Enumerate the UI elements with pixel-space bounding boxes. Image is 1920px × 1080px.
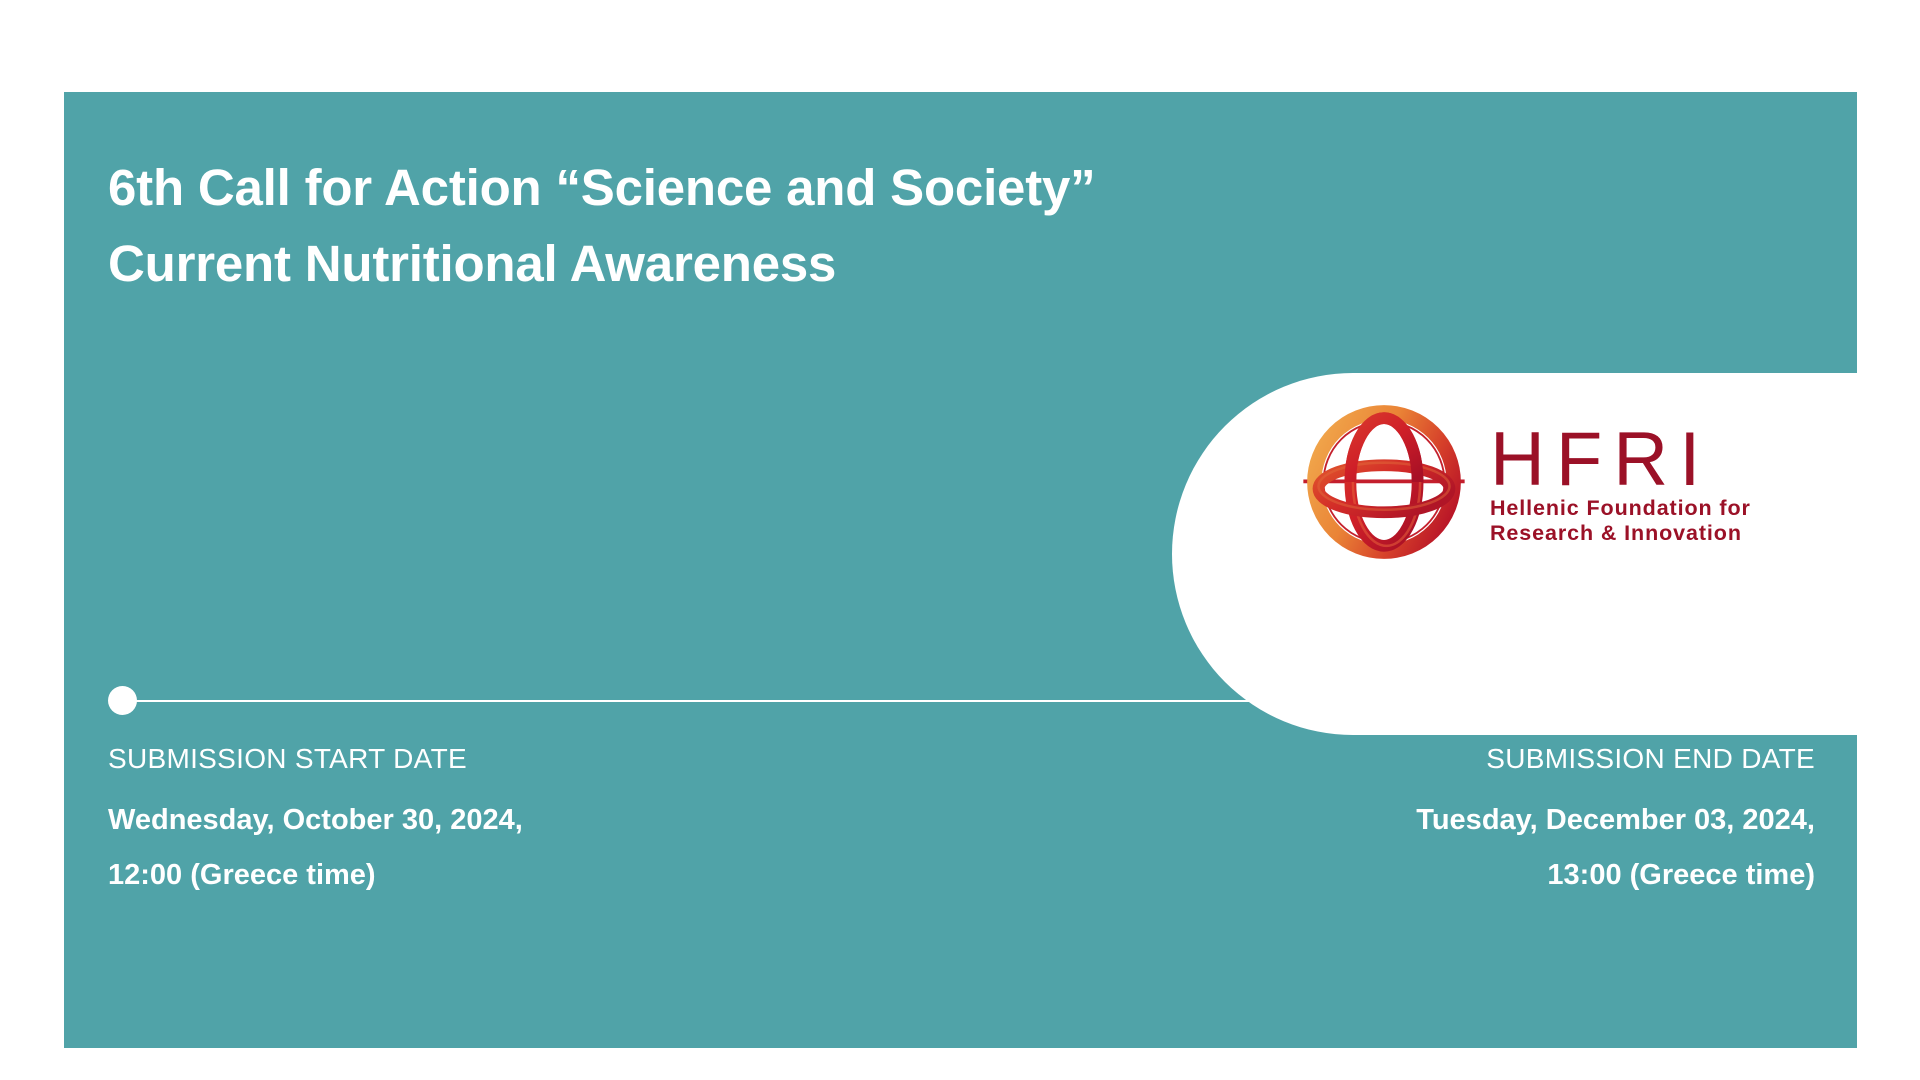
submission-start-block: SUBMISSION START DATE Wednesday, October… <box>108 742 808 903</box>
timeline-start-dot-icon <box>108 686 137 715</box>
submission-end-value-line-1: Tuesday, December 03, 2024, <box>1115 793 1815 848</box>
timeline-rule <box>122 700 1802 702</box>
announcement-banner-card: 6th Call for Action “Science and Society… <box>64 92 1857 1048</box>
logo-tagline-line-1: Hellenic Foundation for <box>1490 496 1751 521</box>
hfri-logo: HFRI Hellenic Foundation for Research & … <box>1300 398 1751 566</box>
logo-wordmark: HFRI Hellenic Foundation for Research & … <box>1490 418 1751 546</box>
page-title: 6th Call for Action “Science and Society… <box>108 150 1408 302</box>
submission-end-label: SUBMISSION END DATE <box>1115 742 1815 776</box>
submission-start-value-line-2: 12:00 (Greece time) <box>108 848 808 903</box>
submission-start-label: SUBMISSION START DATE <box>108 742 808 776</box>
logo-panel: HFRI Hellenic Foundation for Research & … <box>1172 373 1857 735</box>
submission-timeline <box>108 686 1815 716</box>
hfri-globe-emblem-icon <box>1300 398 1468 566</box>
title-line-1: 6th Call for Action “Science and Society… <box>108 150 1408 226</box>
submission-end-value-line-2: 13:00 (Greece time) <box>1115 848 1815 903</box>
timeline-end-dot-icon <box>1758 686 1787 715</box>
submission-end-block: SUBMISSION END DATE Tuesday, December 03… <box>1115 742 1815 903</box>
submission-start-value-line-1: Wednesday, October 30, 2024, <box>108 793 808 848</box>
logo-tagline-line-2: Research & Innovation <box>1490 521 1742 546</box>
submission-dates: SUBMISSION START DATE Wednesday, October… <box>108 742 1815 903</box>
logo-acronym: HFRI <box>1490 424 1711 496</box>
title-line-2: Current Nutritional Awareness <box>108 226 1408 302</box>
